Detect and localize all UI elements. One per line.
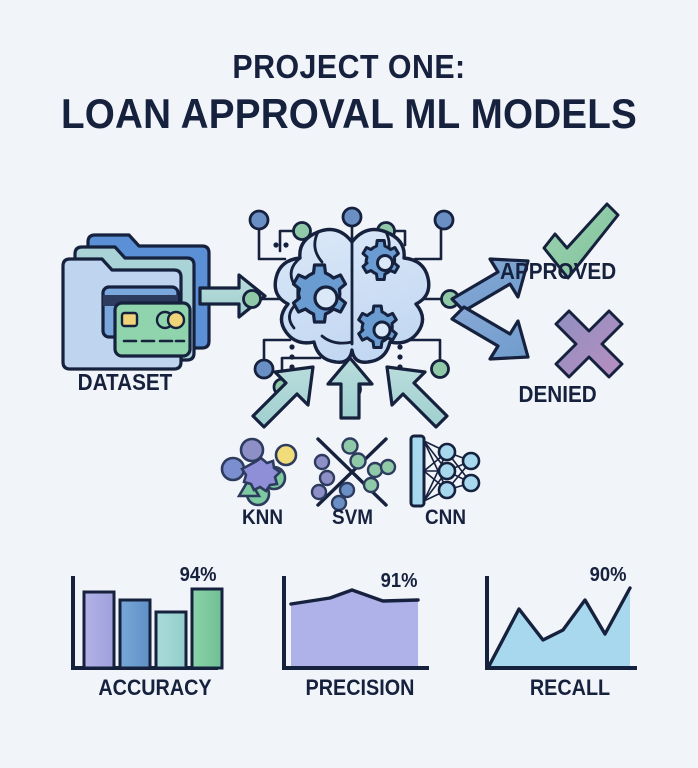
model-label-knn: KNN xyxy=(220,506,306,530)
accuracy-label: ACCURACY xyxy=(65,675,245,701)
accuracy-value: 94% xyxy=(180,564,217,587)
model-label-svm: SVM xyxy=(310,506,396,530)
bar-3 xyxy=(156,612,186,668)
recall-label: RECALL xyxy=(480,675,660,701)
infographic-canvas: PROJECT ONE: LOAN APPROVAL ML MODELS xyxy=(0,0,698,768)
approved-label: APPROVED xyxy=(500,258,680,285)
bar-1 xyxy=(84,592,114,668)
denied-label: DENIED xyxy=(519,381,672,408)
bar-4 xyxy=(192,589,222,668)
recall-chart xyxy=(487,578,635,668)
precision-value: 91% xyxy=(381,570,418,593)
bar-2 xyxy=(120,600,150,668)
model-label-cnn: CNN xyxy=(403,506,489,530)
accuracy-chart xyxy=(73,578,222,668)
recall-value: 90% xyxy=(590,564,627,587)
precision-label: PRECISION xyxy=(270,675,450,701)
dataset-label: DATASET xyxy=(49,369,202,396)
